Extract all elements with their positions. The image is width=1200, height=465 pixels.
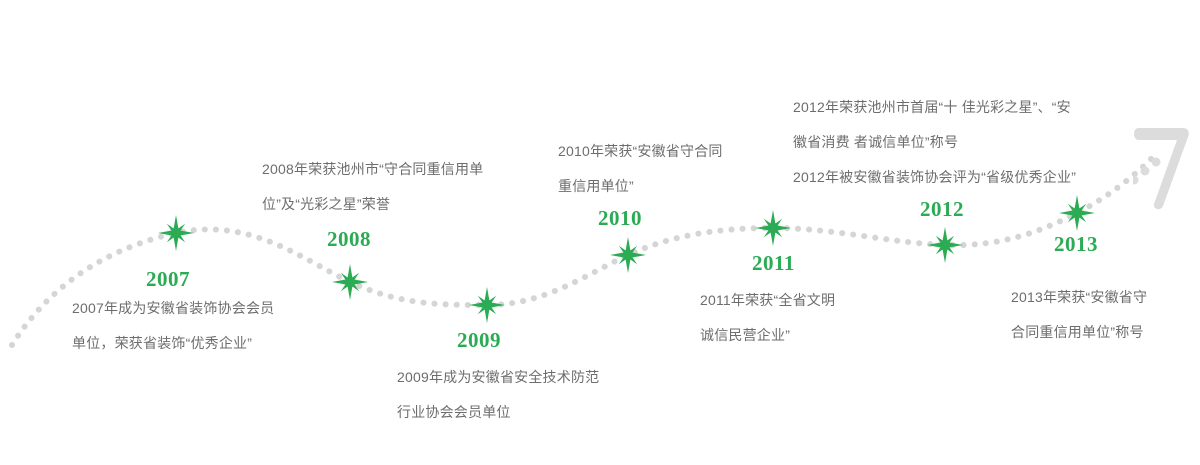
- milestone-description-2013: 2013年荣获“安徽省守 合同重信用单位”称号: [1011, 280, 1147, 350]
- milestone-marker-2008[interactable]: [330, 262, 370, 307]
- milestone-marker-2012[interactable]: [925, 225, 965, 270]
- milestone-description-2009: 2009年成为安徽省安全技术防范 行业协会会员单位: [397, 360, 599, 430]
- sparkle-star-icon: [467, 285, 507, 325]
- milestone-description-2011: 2011年荣获“全省文明 诚信民营企业”: [700, 283, 835, 353]
- sparkle-star-icon: [925, 225, 965, 265]
- milestone-year-2009: 2009: [457, 328, 501, 353]
- milestone-year-2007: 2007: [146, 267, 190, 292]
- timeline-graphic: 20072007年成为安徽省装饰协会会员 单位，荣获省装饰“优秀企业”20082…: [0, 0, 1200, 465]
- milestone-layer: 20072007年成为安徽省装饰协会会员 单位，荣获省装饰“优秀企业”20082…: [0, 0, 1200, 465]
- milestone-year-2011: 2011: [752, 251, 795, 276]
- milestone-year-2008: 2008: [327, 227, 371, 252]
- sparkle-star-icon: [608, 235, 648, 275]
- milestone-marker-2011[interactable]: [753, 208, 793, 253]
- milestone-year-2012: 2012: [920, 197, 964, 222]
- milestone-description-2008: 2008年荣获池州市“守合同重信用单 位”及“光彩之星”荣誉: [262, 152, 483, 222]
- milestone-year-2013: 2013: [1054, 232, 1098, 257]
- sparkle-star-icon: [753, 208, 793, 248]
- milestone-marker-2009[interactable]: [467, 285, 507, 330]
- milestone-description-2010: 2010年荣获“安徽省守合同 重信用单位”: [558, 134, 723, 204]
- milestone-description-2012: 2012年荣获池州市首届“十 佳光彩之星”、“安 徽省消费 者诚信单位”称号 2…: [793, 90, 1076, 195]
- milestone-description-2007: 2007年成为安徽省装饰协会会员 单位，荣获省装饰“优秀企业”: [72, 291, 274, 361]
- milestone-marker-2007[interactable]: [156, 213, 196, 258]
- sparkle-star-icon: [330, 262, 370, 302]
- milestone-marker-2010[interactable]: [608, 235, 648, 280]
- sparkle-star-icon: [156, 213, 196, 253]
- sparkle-star-icon: [1057, 193, 1097, 233]
- milestone-year-2010: 2010: [598, 206, 642, 231]
